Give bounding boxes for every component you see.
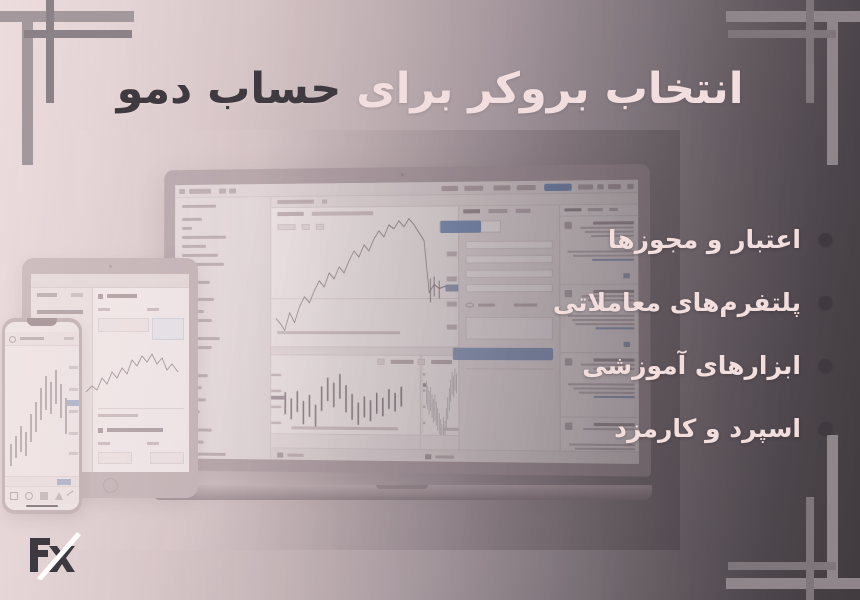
- frame-bar-h-outer: [726, 11, 860, 22]
- bullet-label: اسپرد و کارمزد: [614, 414, 801, 443]
- list-item: اسپرد و کارمزد: [372, 397, 832, 460]
- bullet-label: ابزارهای آموزشی: [582, 351, 801, 380]
- fx-logo: [24, 528, 86, 580]
- list-item: پلتفرم‌های معاملاتی: [372, 271, 832, 334]
- phone-device: [2, 318, 82, 514]
- bullet-label: پلتفرم‌های معاملاتی: [553, 288, 801, 317]
- phone-notch: [27, 318, 57, 326]
- phone-home-indicator: [26, 505, 58, 507]
- page-title: انتخاب بروکر برای حساب دمو: [0, 60, 860, 118]
- phone-candlestick-chart: [5, 348, 79, 472]
- frame-bar-h-inner: [728, 30, 836, 38]
- page-title-light-part: انتخاب بروکر برای: [356, 64, 743, 114]
- frame-bar-h-outer: [726, 578, 860, 589]
- laptop-base-notch: [376, 485, 428, 489]
- page-title-dark-part: حساب دمو: [117, 64, 342, 114]
- list-item: ابزارهای آموزشی: [372, 334, 832, 397]
- phone-screen: [5, 322, 79, 510]
- frame-bar-h-inner: [24, 30, 132, 38]
- bullet-dot-icon: [819, 233, 832, 246]
- phone-toolbar: [5, 486, 79, 504]
- tablet-camera-icon: [109, 265, 112, 268]
- frame-bar-h-outer: [0, 11, 134, 22]
- laptop-base: [152, 485, 652, 500]
- tablet-chart-line: [84, 346, 184, 402]
- frame-bar-h-inner: [728, 562, 836, 570]
- laptop-camera-icon: [400, 173, 403, 176]
- tablet-top-bar: [31, 274, 189, 288]
- list-item: اعتبار و مجوزها: [372, 208, 832, 271]
- tablet-detail-panel: [93, 288, 189, 472]
- phone-time-axis: [5, 476, 79, 486]
- fx-logo-icon: [24, 528, 86, 580]
- tablet-home-button: [103, 478, 118, 493]
- bullet-dot-icon: [819, 422, 832, 435]
- frame-bar-v-inner: [806, 497, 814, 600]
- bullet-dot-icon: [819, 359, 832, 372]
- phone-header: [5, 332, 79, 346]
- bullet-dot-icon: [819, 296, 832, 309]
- bullet-label: اعتبار و مجوزها: [608, 225, 801, 254]
- feature-bullet-list: اعتبار و مجوزها پلتفرم‌های معاملاتی ابزا…: [372, 208, 832, 460]
- poster-canvas: انتخاب بروکر برای حساب دمو اعتبار و مجوز…: [0, 0, 860, 600]
